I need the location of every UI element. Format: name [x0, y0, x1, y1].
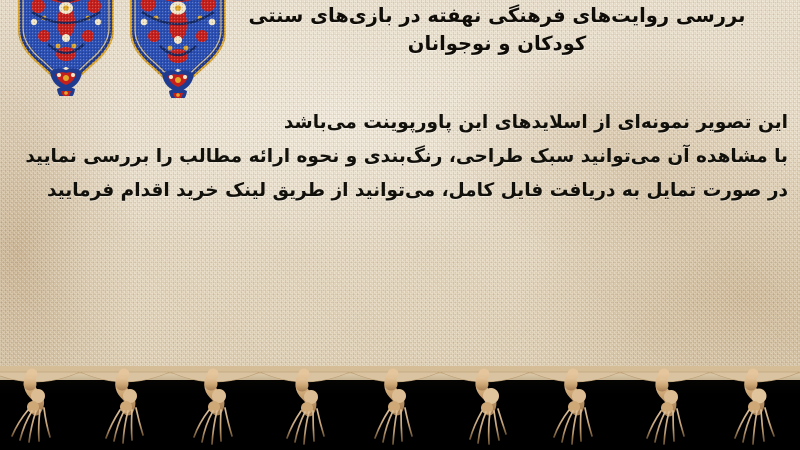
- persian-carpet-medallion-icon: [14, 0, 118, 96]
- body-line-3: در صورت تمایل به دریافت فایل کامل، می‌تو…: [6, 180, 788, 201]
- powerpoint-slide: بررسی روایت‌های فرهنگی نهفته در بازی‌های…: [0, 0, 800, 450]
- carpet-tassels: [0, 366, 800, 450]
- body-line-1: این تصویر نمونه‌ای از اسلایدهای این پاور…: [6, 112, 788, 133]
- slide-body: این تصویر نمونه‌ای از اسلایدهای این پاور…: [6, 112, 788, 201]
- body-line-2: با مشاهده آن می‌توانید سبک طراحی، رنگ‌بن…: [6, 146, 788, 167]
- slide-title: بررسی روایت‌های فرهنگی نهفته در بازی‌های…: [212, 2, 782, 59]
- persian-pendant-drop-icon: [162, 70, 194, 98]
- persian-medallion-left: [14, 0, 118, 100]
- carpet-fringe-band: [0, 366, 800, 450]
